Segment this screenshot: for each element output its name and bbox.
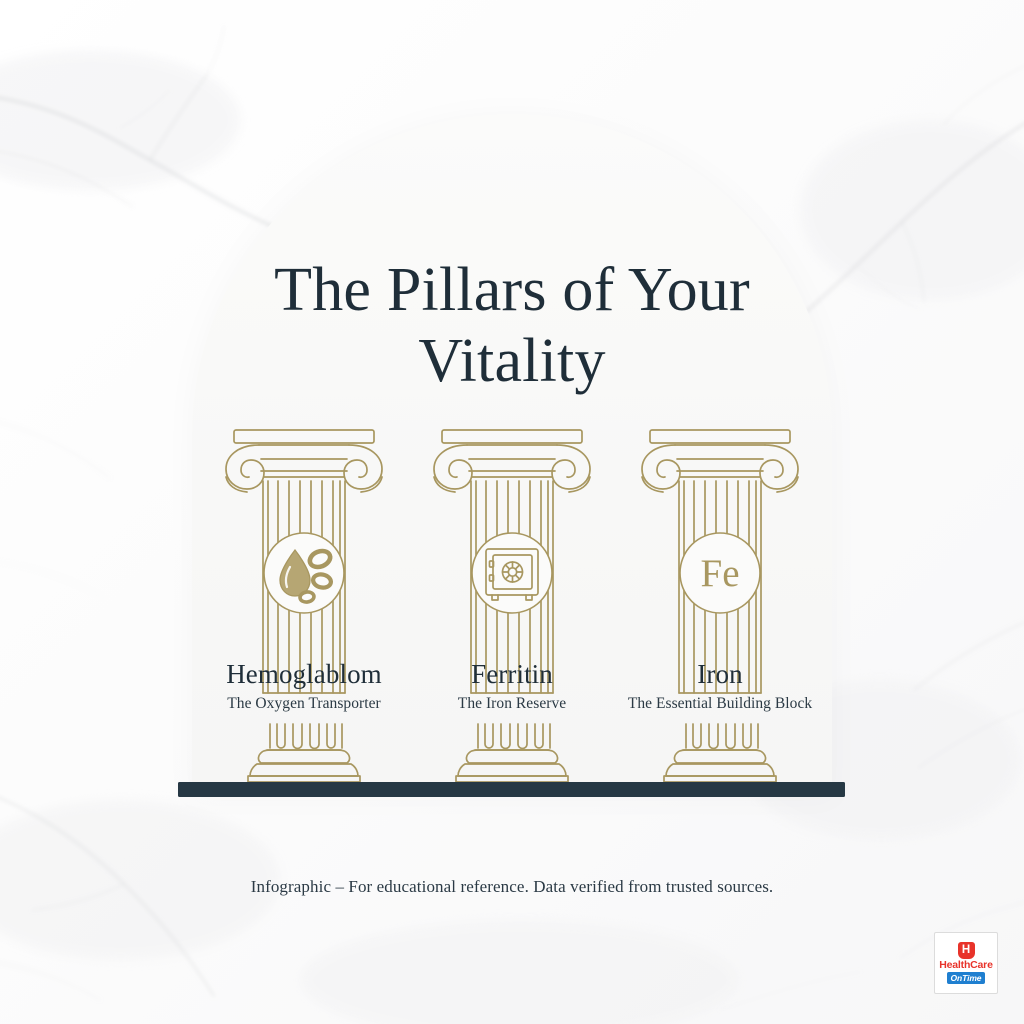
pillar-icon-blood-drop (262, 531, 346, 615)
column-base-icon (204, 722, 404, 785)
column-base-icon (412, 722, 612, 785)
page-title-line-2: Vitality (192, 326, 832, 397)
pillar-icon-safe-vault (470, 531, 554, 615)
brand-wordmark: HealthCare (939, 960, 992, 971)
brand-subbadge: OnTime (947, 972, 986, 984)
pillar-card-hemoglablom[interactable]: Hemoglablom The Oxygen Transporter (204, 425, 404, 785)
shield-h-icon: H (958, 942, 975, 959)
pillar-icon-label: Fe (678, 531, 762, 615)
pillars-row: Hemoglablom The Oxygen Transporter (192, 425, 832, 785)
pillar-card-iron[interactable]: Fe Iron The Essential Building Block (620, 425, 820, 785)
brand-logo[interactable]: H HealthCare OnTime (934, 932, 998, 994)
page-title: The Pillars of Your Vitality (192, 255, 832, 396)
column-base-icon (620, 722, 820, 785)
footer-disclaimer: Infographic – For educational reference.… (0, 877, 1024, 897)
pillar-card-ferritin[interactable]: Ferritin The Iron Reserve (412, 425, 612, 785)
page-title-line-1: The Pillars of Your (192, 255, 832, 326)
ground-base-bar (178, 782, 845, 797)
